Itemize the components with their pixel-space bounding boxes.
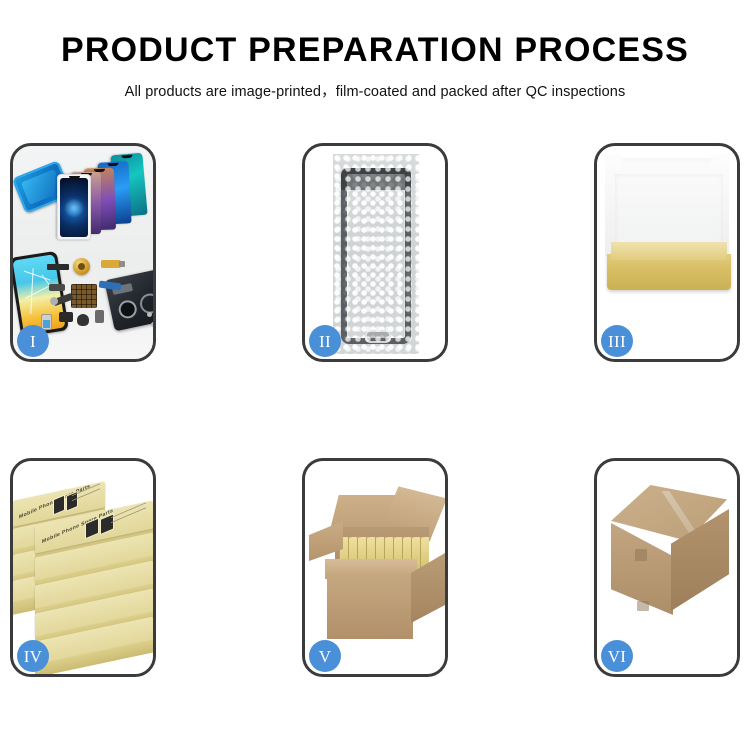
phone-front-glass [57,174,91,240]
carton-handle-notch [637,601,649,611]
step-panel-4[interactable]: Mobile Phone Spare Parts [10,458,156,677]
step-badge-5: V [309,640,341,672]
retail-box [35,629,153,653]
step-badge-3: III [601,325,633,357]
header: PRODUCT PREPARATION PROCESS All products… [0,0,750,101]
connector-icon [95,310,104,323]
flex-cable-gold-icon [101,260,121,268]
product-preparation-infographic: PRODUCT PREPARATION PROCESS All products… [0,0,750,750]
phone-lineup [57,152,153,244]
step-badge-2: II [309,325,341,357]
step-panel-5[interactable]: V [302,458,448,677]
step-badge-6: VI [601,640,633,672]
carton-handle-notch [635,549,647,561]
page-subtitle: All products are image-printed，film-coat… [0,80,750,101]
chip-grid-icon [71,284,97,308]
screws-group [147,312,153,328]
carton-front-face [327,573,413,639]
steps-grid: I II III [10,143,740,677]
step-panel-1[interactable]: I [10,143,156,362]
earpiece-mesh-icon [47,264,69,270]
sim-tray-icon [49,284,65,291]
step-panel-6[interactable]: VI [594,458,740,677]
camera-module-icon [77,314,89,326]
speaker-icon [59,312,73,322]
step-panel-3[interactable]: III [594,143,740,362]
step-badge-4: IV [17,640,49,672]
bubble-texture [333,154,419,354]
bubble-wrap-sheet [333,154,419,354]
step-badge-1: I [17,325,49,357]
kraft-tray [607,254,731,290]
page-title: PRODUCT PREPARATION PROCESS [0,32,750,69]
phone-back-housing [104,269,153,332]
vibration-motor-icon [73,258,90,275]
step-panel-2[interactable]: II [302,143,448,362]
